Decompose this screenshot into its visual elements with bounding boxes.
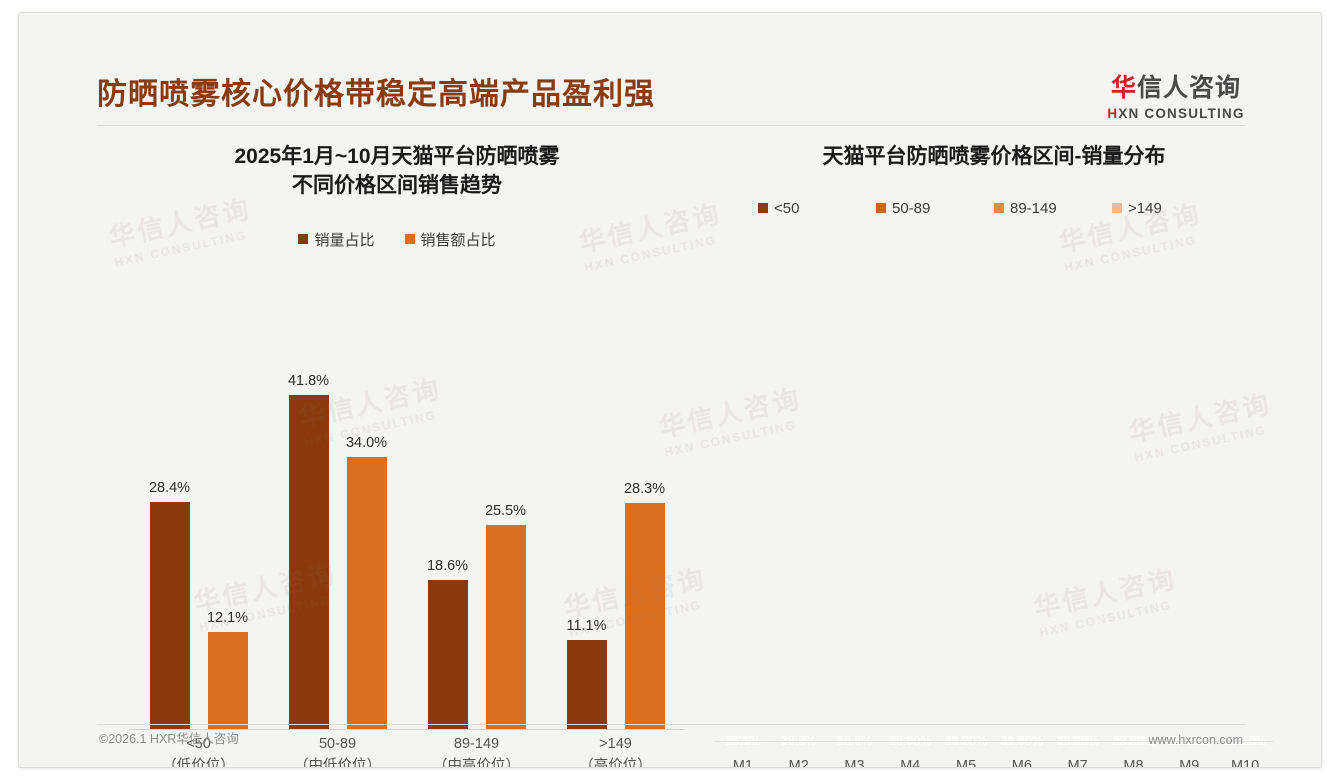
bar-value-label: 18.6% — [414, 558, 482, 574]
footer-website[interactable]: www.hxrcon.com — [1149, 733, 1243, 747]
x-tick-sub: （高价位） — [546, 756, 685, 768]
stacked-bar-column[interactable]: 18.90%25.70%40.70%14.80% — [882, 401, 938, 741]
right-chart-title: 天猫平台防晒喷雾价格区间-销量分布 — [709, 143, 1279, 172]
left-chart-title: 2025年1月~10月天猫平台防晒喷雾 不同价格区间销售趋势 — [97, 143, 697, 201]
legend-swatch-icon — [994, 203, 1004, 213]
left-chart-title-line2: 不同价格区间销售趋势 — [97, 172, 697, 201]
x-axis-tick-label: M1 — [715, 758, 771, 768]
x-axis-tick-label: 89-149（中高价位） — [407, 734, 546, 768]
bar-value-label: 34.0% — [333, 435, 401, 451]
bar-column[interactable]: 28.3% — [625, 329, 665, 729]
bar-value-label: 11.1% — [553, 618, 621, 634]
bar[interactable] — [208, 632, 248, 729]
legend-label: 销量占比 — [314, 229, 374, 250]
bar-column[interactable]: 11.1% — [567, 329, 607, 729]
bar-column[interactable]: 12.1% — [208, 329, 248, 729]
logo-cn-rest: 信人咨询 — [1137, 74, 1241, 102]
legend-swatch-icon — [1112, 203, 1122, 213]
stacked-bar-column[interactable]: 5.40%30.40%37.00%27.20% — [1161, 401, 1217, 741]
left-chart-title-line1: 2025年1月~10月天猫平台防晒喷雾 — [97, 143, 697, 172]
left-chart-legend: 销量占比销售额占比 — [97, 229, 697, 250]
stacked-bar-column[interactable]: 6.70%27.20%42.80%23.30% — [1106, 401, 1162, 741]
logo-cn-first-char: 华 — [1111, 74, 1137, 102]
legend-item-left-0[interactable]: 销量占比 — [298, 229, 374, 250]
bar-group: 28.4%12.1% — [129, 329, 268, 729]
legend-item-right-1[interactable]: 50-89 — [876, 200, 994, 217]
left-chart-bar-groups: 28.4%12.1%41.8%34.0%18.6%25.5%11.1%28.3% — [129, 329, 685, 729]
right-chart-stacked-bars: 5.7%23.5%46.1%24.7%18.6%19.8%37.7%23.9%1… — [715, 401, 1273, 741]
stacked-bar-column[interactable]: 5.7%23.5%46.1%24.7% — [715, 401, 771, 741]
bar[interactable] — [567, 640, 607, 729]
legend-label: >149 — [1128, 200, 1162, 217]
slide-frame: 防晒喷雾核心价格带稳定高端产品盈利强 华信人咨询 HXN CONSULTING … — [18, 12, 1322, 768]
bar-column[interactable]: 18.6% — [428, 329, 468, 729]
chart-price-band-sales-trend: 2025年1月~10月天猫平台防晒喷雾 不同价格区间销售趋势 销量占比销售额占比… — [97, 143, 697, 713]
stacked-bar-column[interactable]: 18.6%19.8%37.7%23.9% — [771, 401, 827, 741]
brand-logo: 华信人咨询 HXN CONSULTING — [1091, 68, 1261, 121]
legend-swatch-icon — [758, 203, 768, 213]
legend-item-right-2[interactable]: 89-149 — [994, 200, 1112, 217]
legend-label: 销售额占比 — [421, 229, 496, 250]
x-axis-tick-label: M3 — [827, 758, 883, 768]
x-axis-tick-label: M10 — [1217, 758, 1273, 768]
x-tick-sub: （中高价位） — [407, 756, 546, 768]
bar-value-label: 28.4% — [136, 480, 204, 496]
right-chart-plot-area: 5.7%23.5%46.1%24.7%18.6%19.8%37.7%23.9%1… — [709, 283, 1279, 768]
x-axis-tick-label: M4 — [882, 758, 938, 768]
x-axis-tick-label: M8 — [1106, 758, 1162, 768]
stacked-bar-column[interactable]: 8.20%15.20%49.00%27.60% — [1050, 401, 1106, 741]
x-tick-sub: （中低价位） — [268, 756, 407, 768]
logo-chinese-text: 华信人咨询 — [1091, 68, 1261, 104]
page-title: 防晒喷雾核心价格带稳定高端产品盈利强 — [97, 69, 655, 113]
x-axis-tick-label: M5 — [938, 758, 994, 768]
bar-column[interactable]: 25.5% — [486, 329, 526, 729]
stacked-bar-column[interactable]: 12.7%26.7%40.6%20.0% — [827, 401, 883, 741]
slide-header: 防晒喷雾核心价格带稳定高端产品盈利强 华信人咨询 HXN CONSULTING — [19, 13, 1321, 125]
bar-value-label: 28.3% — [611, 481, 679, 497]
x-axis-tick-label: 50-89（中低价位） — [268, 734, 407, 768]
bar[interactable] — [428, 580, 468, 729]
x-tick-sub: （低价位） — [129, 756, 268, 768]
stacked-bar-column[interactable]: 11.90%16.40%39.70%32.00% — [994, 401, 1050, 741]
x-axis-tick-label: M9 — [1161, 758, 1217, 768]
right-chart-x-axis-labels: M1M2M3M4M5M6M7M8M9M10 — [715, 758, 1273, 768]
footer-divider — [97, 724, 1245, 725]
legend-swatch-icon — [298, 234, 308, 244]
x-axis-tick-label: M6 — [994, 758, 1050, 768]
logo-en-rest: XN CONSULTING — [1118, 106, 1244, 121]
title-divider — [97, 125, 1245, 126]
legend-item-right-0[interactable]: <50 — [758, 200, 876, 217]
left-chart-plot-area: 28.4%12.1%41.8%34.0%18.6%25.5%11.1%28.3%… — [97, 303, 697, 768]
stacked-bar-column[interactable]: 13.70%16.30%41.20%28.90% — [938, 401, 994, 741]
bar-group: 41.8%34.0% — [268, 329, 407, 729]
x-axis-tick-label: M2 — [771, 758, 827, 768]
bar-group: 11.1%28.3% — [546, 329, 685, 729]
legend-item-right-3[interactable]: >149 — [1112, 200, 1230, 217]
right-chart-legend: <5050-8989-149>149 — [709, 200, 1279, 217]
x-tick-main: >149 — [599, 736, 632, 752]
bar[interactable] — [486, 525, 526, 729]
stacked-bar-column[interactable]: 3.50%28.70%40.30%27.40% — [1217, 401, 1273, 741]
legend-swatch-icon — [876, 203, 886, 213]
bar-value-label: 41.8% — [275, 373, 343, 389]
x-axis-tick-label: >149（高价位） — [546, 734, 685, 768]
x-axis-tick-label: M7 — [1050, 758, 1106, 768]
bar[interactable] — [347, 457, 387, 729]
x-tick-main: 50-89 — [319, 736, 356, 752]
legend-label: 50-89 — [892, 200, 930, 217]
bar[interactable] — [625, 503, 665, 729]
bar[interactable] — [150, 502, 190, 729]
logo-english-text: HXN CONSULTING — [1091, 106, 1261, 121]
x-tick-main: 89-149 — [454, 736, 499, 752]
legend-swatch-icon — [405, 234, 415, 244]
bar-column[interactable]: 28.4% — [150, 329, 190, 729]
chart-price-band-volume-distribution: 天猫平台防晒喷雾价格区间-销量分布 <5050-8989-149>149 5.7… — [709, 143, 1279, 713]
bar-value-label: 12.1% — [194, 610, 262, 626]
bar[interactable] — [289, 395, 329, 729]
footer-copyright: ©2026.1 HXR华信人咨询 — [99, 728, 239, 747]
bar-column[interactable]: 41.8% — [289, 329, 329, 729]
bar-column[interactable]: 34.0% — [347, 329, 387, 729]
bar-value-label: 25.5% — [472, 503, 540, 519]
legend-label: 89-149 — [1010, 200, 1057, 217]
bar-group: 18.6%25.5% — [407, 329, 546, 729]
logo-en-first-char: H — [1107, 106, 1118, 121]
legend-item-left-1[interactable]: 销售额占比 — [405, 229, 496, 250]
legend-label: <50 — [774, 200, 799, 217]
